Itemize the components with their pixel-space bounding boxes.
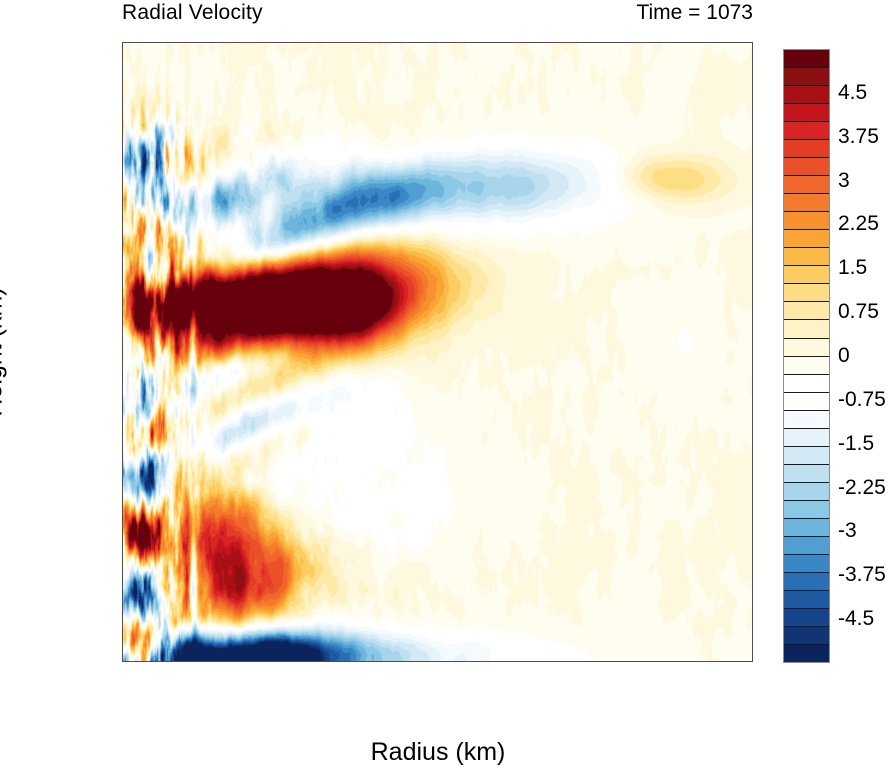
colorbar-band (784, 158, 829, 176)
colorbar-band (784, 483, 829, 501)
colorbar-band (784, 266, 829, 284)
colorbar-band (784, 519, 829, 537)
colorbar-tick-label: 0 (838, 344, 850, 368)
x-tick-minor-top (669, 42, 670, 43)
colorbar-band (784, 555, 829, 573)
y-tick-minor (122, 518, 123, 519)
chart-canvas: Radial Velocity Time = 1073 048121620243… (0, 0, 895, 774)
time-annotation: Time = 1073 (636, 1, 753, 25)
colorbar-tick-label: -0.75 (838, 388, 886, 412)
colorbar-band (784, 68, 829, 86)
y-tick-minor (122, 614, 123, 615)
colorbar-tick-label: 4.5 (838, 81, 867, 105)
colorbar-band (784, 411, 829, 429)
colorbar-band (784, 429, 829, 447)
colorbar-band (784, 302, 829, 320)
colorbar-band (784, 50, 829, 68)
plot-area: 0481216202430060090012001500 (122, 42, 753, 662)
colorbar-tick-label: -1.5 (838, 432, 874, 456)
y-tick-minor (122, 230, 123, 231)
colorbar-band (784, 501, 829, 519)
x-tick-minor-top (333, 42, 334, 43)
colorbar-band (784, 122, 829, 140)
colorbar-band (784, 627, 829, 645)
colorbar-band (784, 176, 829, 194)
colorbar-band (784, 609, 829, 627)
colorbar-band (784, 357, 829, 375)
colorbar-band (784, 465, 829, 483)
colorbar-band (784, 393, 829, 411)
x-tick-major-top (248, 42, 250, 43)
x-tick-major-top (627, 42, 629, 43)
radial-velocity-heatmap (123, 43, 752, 661)
colorbar-band (784, 375, 829, 393)
x-tick-minor-top (417, 42, 418, 43)
x-tick-minor-top (711, 42, 712, 43)
x-tick-major-top (501, 42, 503, 43)
y-tick-major (122, 182, 123, 184)
colorbar-band (784, 140, 829, 158)
x-axis-title: Radius (km) (371, 738, 506, 767)
colorbar-tick-label: -4.5 (838, 607, 874, 631)
colorbar-band (784, 194, 829, 212)
colorbar-band (784, 339, 829, 357)
colorbar-band (784, 86, 829, 104)
colorbar-band (784, 104, 829, 122)
y-tick-major (122, 85, 123, 87)
y-tick-minor (122, 422, 123, 423)
colorbar (783, 49, 830, 663)
colorbar-tick-label: 1.5 (838, 256, 867, 280)
y-axis-title: Height (km) (0, 287, 9, 416)
x-tick-minor-top (543, 42, 544, 43)
colorbar-band (784, 248, 829, 266)
y-tick-minor (122, 326, 123, 327)
colorbar-band (784, 230, 829, 248)
colorbar-tick-label: -3 (838, 519, 857, 543)
colorbar-band (784, 645, 829, 662)
y-tick-major (122, 566, 123, 568)
colorbar-band (784, 573, 829, 591)
colorbar-tick-label: 0.75 (838, 300, 879, 324)
x-tick-minor-top (206, 42, 207, 43)
y-tick-major (122, 278, 123, 280)
x-tick-major-top (375, 42, 377, 43)
colorbar-band (784, 284, 829, 302)
colorbar-band (784, 447, 829, 465)
colorbar-tick-label: 2.25 (838, 212, 879, 236)
colorbar-band (784, 591, 829, 609)
colorbar-tick-label: 3.75 (838, 125, 879, 149)
y-tick-major (122, 470, 123, 472)
colorbar-band (784, 537, 829, 555)
x-tick-minor-top (291, 42, 292, 43)
x-tick-minor-top (459, 42, 460, 43)
colorbar-tick-label: -3.75 (838, 563, 886, 587)
chart-title: Radial Velocity (122, 1, 263, 25)
y-tick-major (122, 374, 123, 376)
colorbar-band (784, 320, 829, 338)
colorbar-tick-label: -2.25 (838, 476, 886, 500)
x-tick-minor-top (585, 42, 586, 43)
colorbar-band (784, 212, 829, 230)
x-tick-minor-top (164, 42, 165, 43)
colorbar-tick-label: 3 (838, 169, 850, 193)
y-tick-minor (122, 134, 123, 135)
